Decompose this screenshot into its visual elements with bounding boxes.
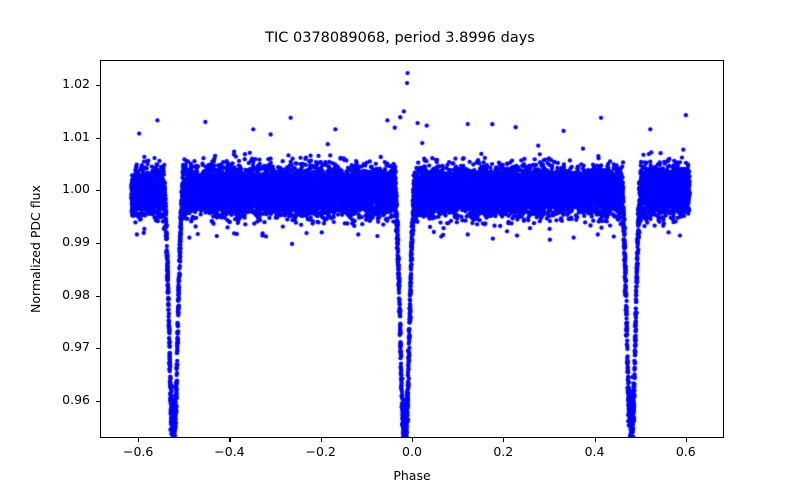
y-axis-label: Normalized PDC flux bbox=[27, 60, 45, 438]
x-tick-label: 0.6 bbox=[651, 444, 721, 459]
x-tick-mark bbox=[686, 438, 687, 442]
x-tick-label: 0.2 bbox=[468, 444, 538, 459]
y-tick-mark bbox=[96, 401, 100, 402]
figure-canvas: TIC 0378089068, period 3.8996 days −0.6−… bbox=[0, 0, 800, 500]
y-tick-mark bbox=[96, 243, 100, 244]
scatter-series bbox=[101, 61, 724, 438]
plot-area bbox=[100, 60, 724, 438]
x-tick-label: 0.4 bbox=[560, 444, 630, 459]
x-tick-label: −0.4 bbox=[194, 444, 264, 459]
x-tick-mark bbox=[138, 438, 139, 442]
x-tick-mark bbox=[229, 438, 230, 442]
y-tick-mark bbox=[96, 138, 100, 139]
x-axis-label: Phase bbox=[100, 468, 724, 483]
x-tick-label: −0.2 bbox=[286, 444, 356, 459]
chart-title: TIC 0378089068, period 3.8996 days bbox=[0, 30, 800, 46]
x-tick-mark bbox=[321, 438, 322, 442]
y-tick-mark bbox=[96, 348, 100, 349]
y-tick-mark bbox=[96, 85, 100, 86]
x-tick-mark bbox=[503, 438, 504, 442]
y-tick-mark bbox=[96, 190, 100, 191]
x-tick-label: −0.6 bbox=[103, 444, 173, 459]
y-tick-mark bbox=[96, 296, 100, 297]
x-tick-label: 0.0 bbox=[377, 444, 447, 459]
x-tick-mark bbox=[595, 438, 596, 442]
x-tick-mark bbox=[412, 438, 413, 442]
